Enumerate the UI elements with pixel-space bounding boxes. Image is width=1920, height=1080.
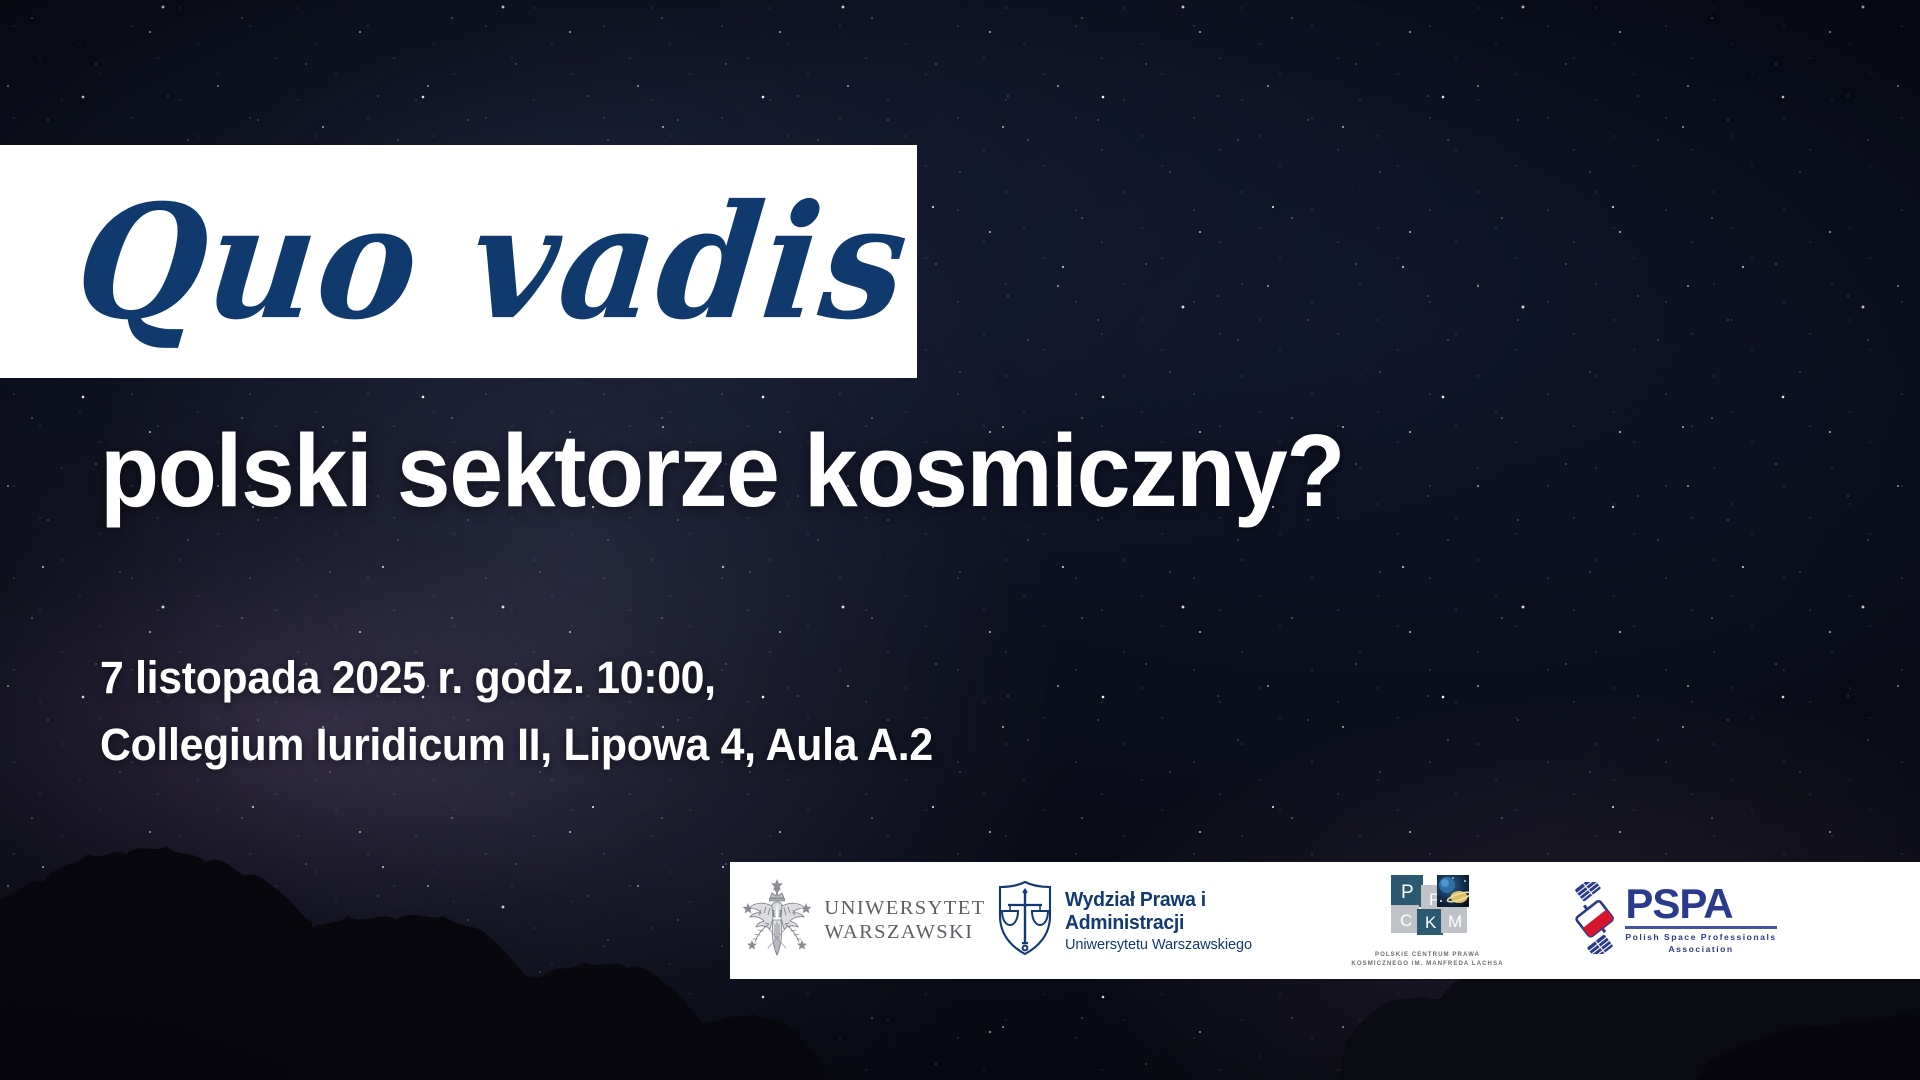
logo-uw-line1: UNIWERSYTET	[824, 897, 985, 921]
logo-uniwersytet-warszawski[interactable]: UNIWERSYTET WARSZAWSKI	[730, 862, 995, 979]
page-headline: polski sektorze kosmiczny?	[100, 418, 1754, 523]
event-details: 7 listopada 2025 r. godz. 10:00, Collegi…	[100, 645, 933, 778]
logo-pspa-sub-line2: Association	[1625, 943, 1776, 955]
logo-pspa-sub-line1: Polish Space Professionals	[1625, 931, 1776, 943]
logo-pspa-subtitle: Polish Space Professionals Association	[1625, 931, 1776, 956]
shield-scales-sword-icon	[995, 880, 1055, 961]
crowned-eagle-emblem-icon	[739, 876, 815, 965]
satellite-polish-flag-icon	[1563, 882, 1625, 959]
logo-pspa-text: PSPA Polish Space Professionals Associat…	[1625, 885, 1776, 955]
svg-text:C: C	[1400, 911, 1412, 930]
planets-tile-icon: P P C K M	[1375, 873, 1481, 944]
svg-text:M: M	[1448, 912, 1462, 931]
logo-wydzial-prawa-administracji[interactable]: Wydział Prawa i Administracji Uniwersyte…	[995, 862, 1315, 979]
event-date-time: 7 listopada 2025 r. godz. 10:00,	[100, 645, 933, 712]
svg-text:K: K	[1425, 913, 1437, 932]
logo-wpia-text: Wydział Prawa i Administracji Uniwersyte…	[1065, 889, 1315, 953]
logo-wpia-line2: Uniwersytetu Warszawskiego	[1065, 936, 1308, 953]
logo-pspa[interactable]: PSPA Polish Space Professionals Associat…	[1540, 862, 1800, 979]
event-location: Collegium Iuridicum II, Lipowa 4, Aula A…	[100, 712, 933, 779]
sponsor-logo-bar: UNIWERSYTET WARSZAWSKI	[730, 862, 1920, 979]
script-title-box: Quo vadis	[0, 145, 917, 378]
page-title-script: Quo vadis	[70, 183, 916, 340]
svg-text:P: P	[1401, 882, 1414, 903]
event-poster: Quo vadis polski sektorze kosmiczny? 7 l…	[0, 0, 1920, 1080]
logo-uw-line2: WARSZAWSKI	[824, 921, 985, 945]
logo-pckm-caption-line1: POLSKIE CENTRUM PRAWA	[1351, 950, 1503, 959]
logo-uw-text: UNIWERSYTET WARSZAWSKI	[824, 897, 985, 945]
logo-pckm-caption-line2: KOSMICZNEGO IM. MANFREDA LACHSA	[1351, 959, 1503, 968]
logo-pspa-wordmark: PSPA	[1625, 885, 1776, 923]
logo-wpia-line1: Wydział Prawa i Administracji	[1065, 889, 1308, 935]
logo-pckm[interactable]: P P C K M	[1315, 862, 1540, 979]
logo-pckm-caption: POLSKIE CENTRUM PRAWA KOSMICZNEGO IM. MA…	[1351, 950, 1503, 969]
